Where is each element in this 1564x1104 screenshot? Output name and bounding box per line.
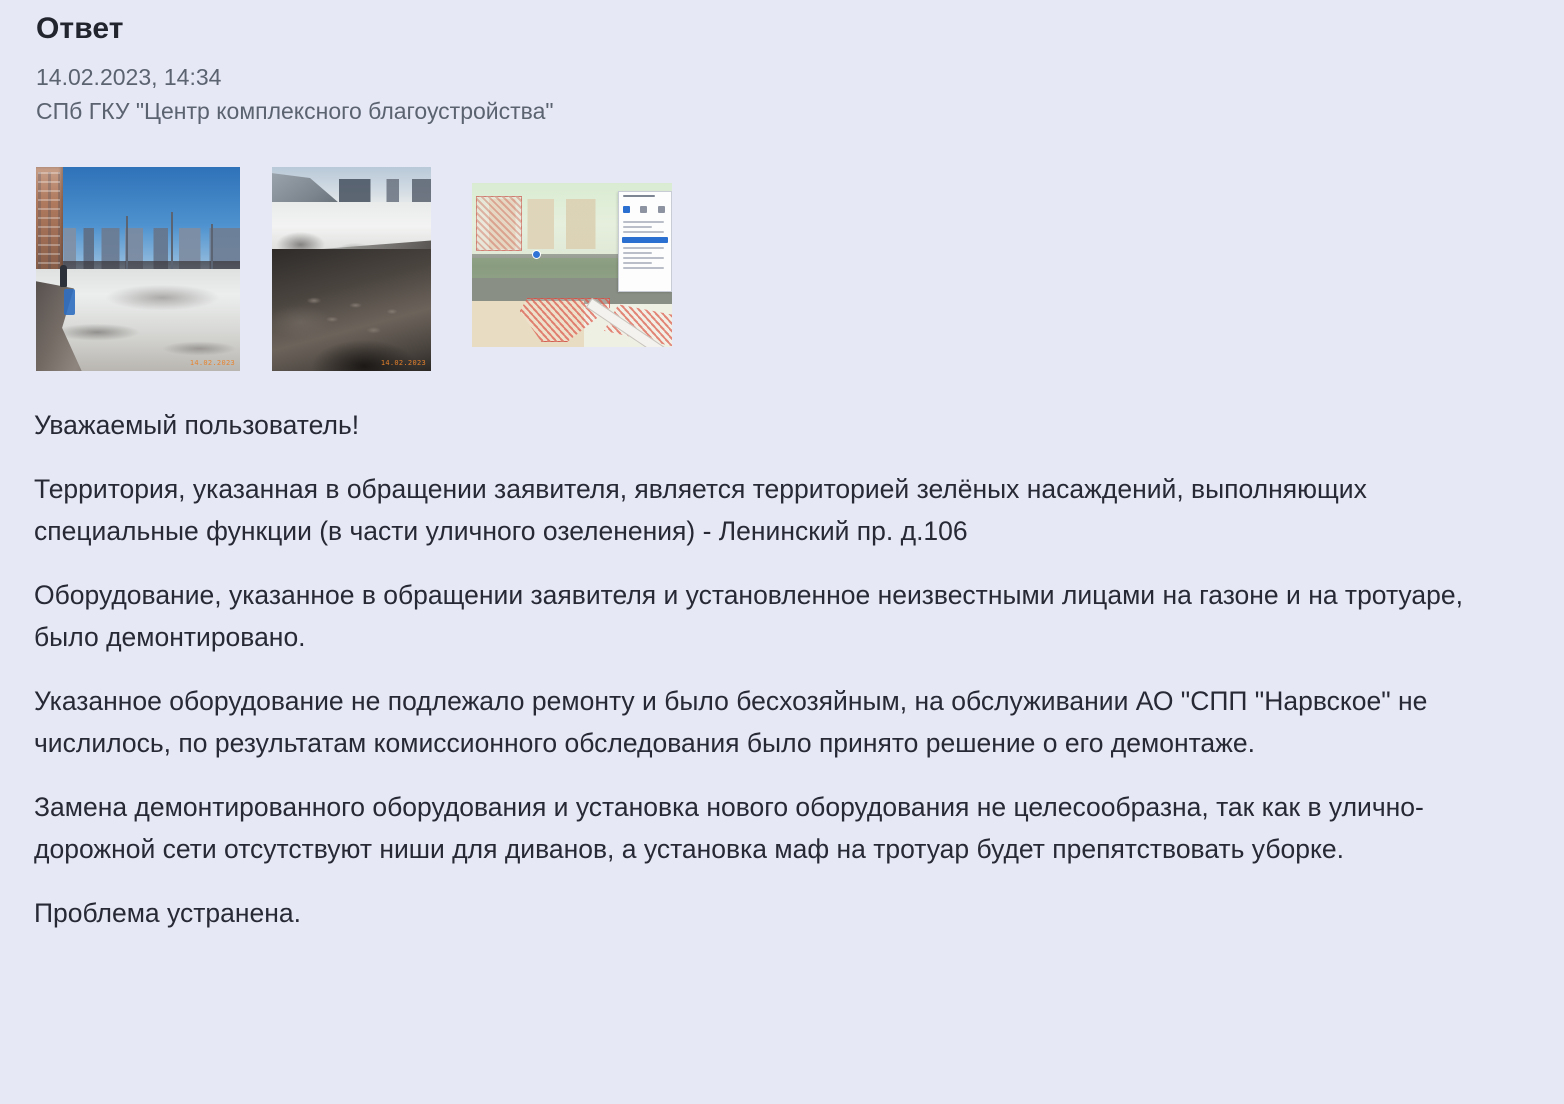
panel-text-line — [623, 221, 664, 223]
page-title: Ответ — [36, 12, 124, 46]
answer-paragraph: Уважаемый пользователь! — [34, 404, 1496, 446]
attachment-thumbnail-2[interactable]: 14.02.2023 — [272, 167, 431, 371]
answer-organization: СПб ГКУ "Центр комплексного благоустройс… — [36, 94, 554, 128]
answer-paragraph: Территория, указанная в обращении заявит… — [34, 468, 1496, 552]
info-icon — [640, 206, 647, 213]
print-icon — [658, 206, 665, 213]
map-red-hatched-zone — [476, 196, 522, 250]
photo-blue-object — [64, 289, 75, 315]
panel-selected-row — [622, 237, 668, 243]
photo-timestamp-watermark: 14.02.2023 — [381, 359, 426, 367]
panel-text-line — [623, 267, 664, 269]
answer-paragraph: Проблема устранена. — [34, 892, 1496, 934]
panel-text-line — [623, 231, 664, 233]
answer-paragraph: Оборудование, указанное в обращении заяв… — [34, 574, 1496, 658]
panel-text-line — [623, 247, 664, 249]
answer-meta: 14.02.2023, 14:34 СПб ГКУ "Центр комплек… — [36, 60, 554, 128]
panel-text-line — [623, 252, 652, 254]
panel-title-line — [623, 195, 655, 197]
photo-lamp-post — [211, 224, 213, 269]
attachment-thumbnail-3[interactable] — [472, 183, 672, 347]
photo-lamp-post — [126, 216, 128, 269]
photo-lamp-post — [171, 212, 173, 269]
panel-toolbar — [619, 200, 671, 218]
attachment-thumbnail-1[interactable]: 14.02.2023 — [36, 167, 240, 371]
photo-timestamp-watermark: 14.02.2023 — [190, 359, 235, 367]
layers-icon — [623, 206, 630, 213]
photo-pedestrian — [60, 265, 67, 287]
panel-text-line — [623, 262, 652, 264]
answer-paragraph: Указанное оборудование не подлежало ремо… — [34, 680, 1496, 764]
attachment-gallery: 14.02.2023 14.02.2023 — [36, 167, 1436, 377]
answer-page: Ответ 14.02.2023, 14:34 СПб ГКУ "Центр к… — [0, 0, 1564, 1104]
answer-timestamp: 14.02.2023, 14:34 — [36, 60, 554, 94]
answer-paragraph: Замена демонтированного оборудования и у… — [34, 786, 1496, 870]
panel-text-line — [623, 226, 652, 228]
answer-body: Уважаемый пользователь! Территория, указ… — [34, 404, 1496, 934]
photo-footprints — [288, 285, 418, 363]
panel-text-line — [623, 257, 664, 259]
map-info-panel — [618, 191, 672, 291]
photo-building — [36, 167, 63, 281]
